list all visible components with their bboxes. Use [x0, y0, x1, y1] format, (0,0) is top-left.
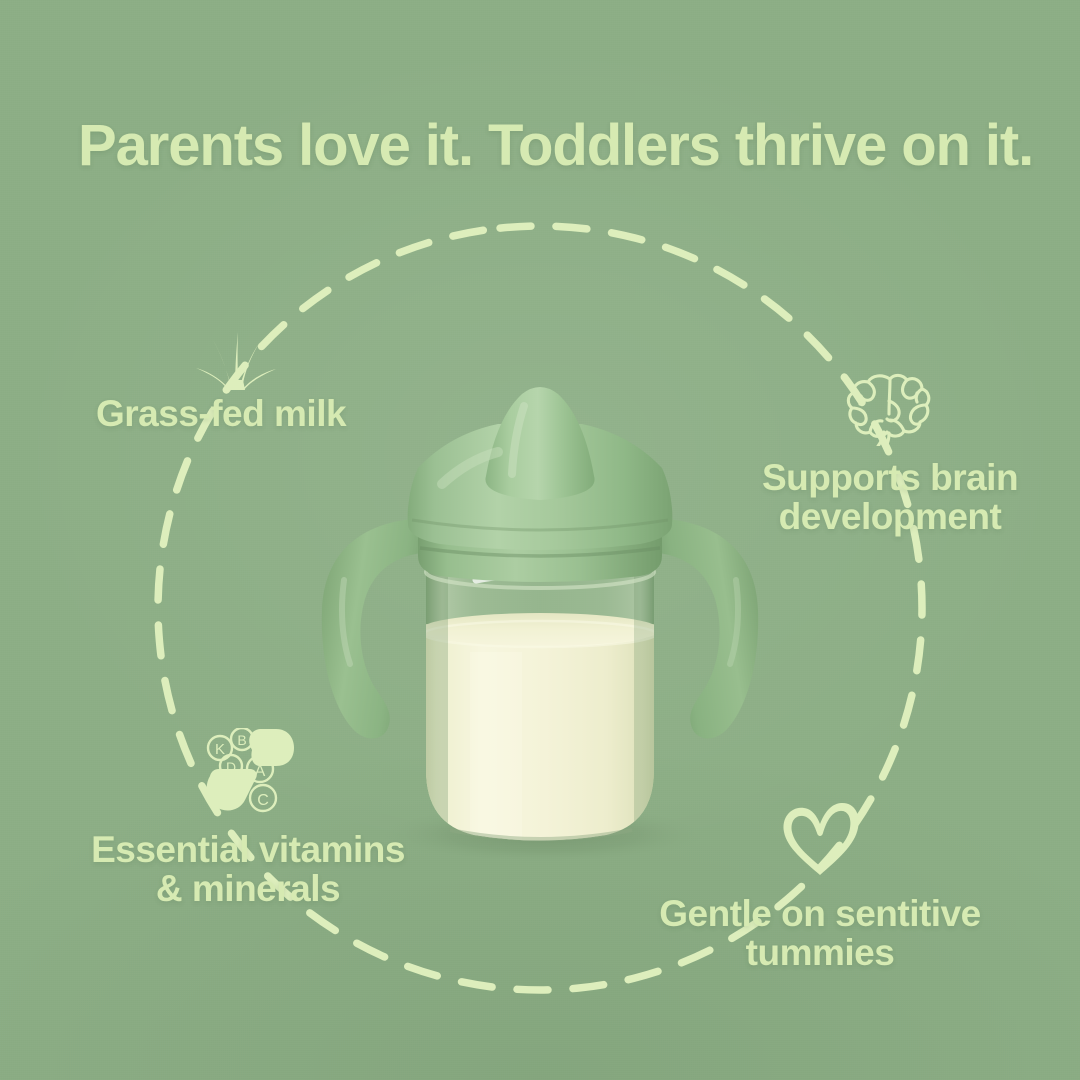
pill-letter-k: K: [215, 741, 225, 758]
pill-letter-c: C: [257, 792, 269, 809]
poster-canvas: Parents love it. Toddlers thrive on it.: [0, 0, 1080, 1080]
feature-supports-brain-development[interactable]: Supports brain development: [740, 372, 1040, 536]
feature-essential-vitamins-minerals[interactable]: K B D A C Essential vitamins & minerals: [68, 728, 428, 908]
grass-icon: [194, 328, 278, 390]
page-title: Parents love it. Toddlers thrive on it.: [78, 116, 1018, 176]
pill-letter-d: D: [226, 759, 236, 775]
cup-lid: [408, 387, 673, 550]
cup-body: [420, 556, 660, 858]
vitamin-capsule-icon: K B D A C: [200, 728, 296, 814]
feature-label-brain: Supports brain development: [740, 458, 1040, 536]
feature-label-grass: Grass-fed milk: [96, 394, 426, 433]
feature-grass-fed-milk[interactable]: Grass-fed milk: [96, 328, 426, 433]
pill-letter-b: B: [237, 732, 246, 748]
pill-letter-a: A: [255, 763, 266, 780]
feature-label-tummies: Gentle on sentitive tummies: [632, 894, 1008, 972]
feature-gentle-on-sensitive-tummies[interactable]: Gentle on sentitive tummies: [632, 800, 1008, 972]
heart-icon: [779, 800, 861, 878]
feature-label-vitamins: Essential vitamins & minerals: [68, 830, 428, 908]
brain-icon: [844, 372, 936, 446]
